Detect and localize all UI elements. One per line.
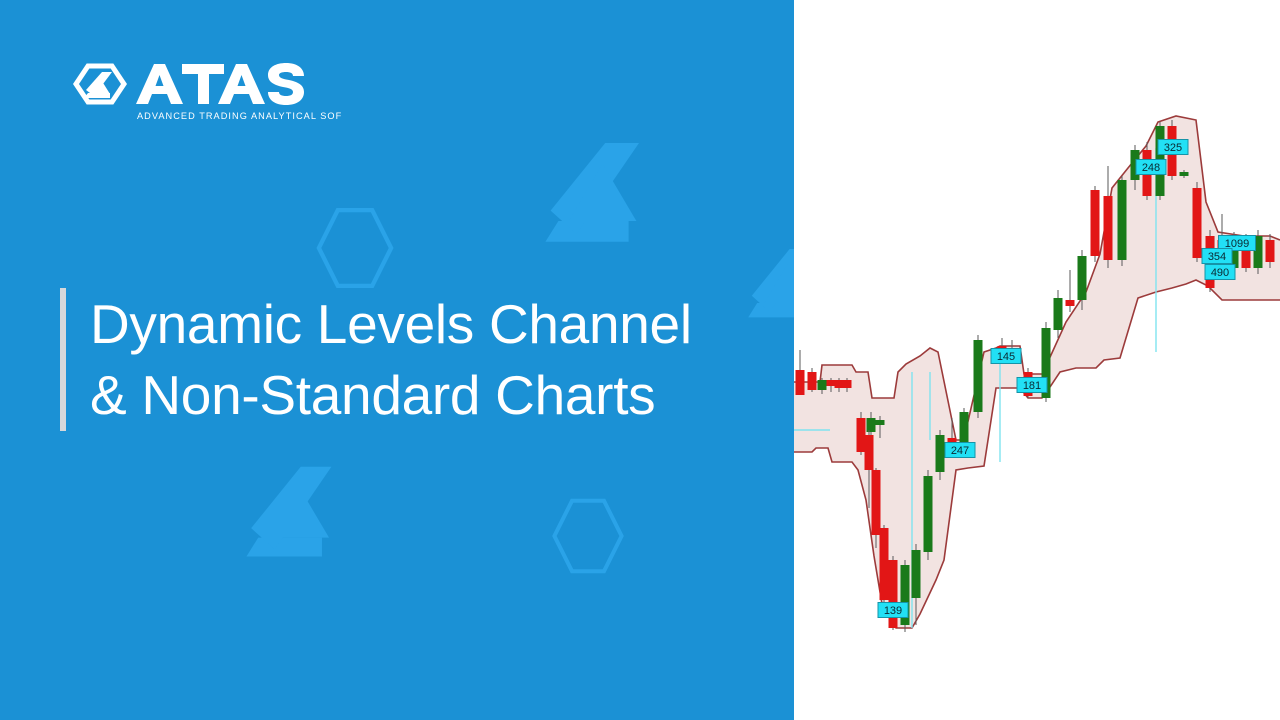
- watermark-hexagon-outline: [312, 205, 398, 291]
- value-label[interactable]: 181: [1017, 378, 1047, 393]
- candle-body-down: [1066, 300, 1075, 306]
- value-label[interactable]: 490: [1205, 265, 1235, 280]
- page-title-line-2: & Non-Standard Charts: [90, 360, 692, 431]
- candle-body-down: [857, 418, 866, 452]
- title-accent-bar: [60, 288, 66, 431]
- candle-body-up: [912, 550, 921, 598]
- candle-body-up: [924, 476, 933, 552]
- value-label-text: 248: [1142, 162, 1160, 174]
- candle-body-down: [1193, 188, 1202, 258]
- candle-body-down: [872, 470, 881, 535]
- candle-body-up: [1118, 180, 1127, 260]
- value-label-text: 145: [997, 351, 1015, 363]
- title-block: Dynamic Levels Channel & Non-Standard Ch…: [60, 288, 692, 431]
- hexagon-z-icon: [76, 66, 124, 102]
- candle-body-up: [936, 435, 945, 472]
- value-label[interactable]: 145: [991, 349, 1021, 364]
- candle-body-down: [880, 528, 889, 600]
- candle-body-down: [835, 380, 844, 388]
- value-label-text: 354: [1208, 251, 1226, 263]
- value-label[interactable]: 325: [1158, 140, 1188, 155]
- candle-body-down: [843, 380, 852, 388]
- candle-body-up: [867, 418, 876, 432]
- logo-tagline: ADVANCED TRADING ANALYTICAL SOFTWARE: [137, 111, 342, 121]
- title-panel: ADVANCED TRADING ANALYTICAL SOFTWARE Dyn…: [0, 0, 794, 720]
- candle-body-up: [876, 420, 885, 425]
- candle-body-up: [1078, 256, 1087, 300]
- candle-body-up: [818, 380, 827, 390]
- watermark-z-arrow: [535, 130, 665, 260]
- value-label-text: 325: [1164, 142, 1182, 154]
- candle-body-up: [1054, 298, 1063, 330]
- candle-body-down: [827, 380, 836, 386]
- value-label[interactable]: 248: [1136, 160, 1166, 175]
- page-title-line-1: Dynamic Levels Channel: [90, 289, 692, 360]
- candle-body-down: [1266, 240, 1275, 262]
- watermark-hexagon-outline: [548, 496, 628, 576]
- chart-background: [794, 0, 1280, 720]
- value-label-text: 490: [1211, 267, 1229, 279]
- watermark-z-arrow: [237, 455, 355, 573]
- value-label[interactable]: 139: [878, 603, 908, 618]
- candle-body-down: [808, 372, 817, 390]
- atas-logo: ADVANCED TRADING ANALYTICAL SOFTWARE: [72, 62, 342, 124]
- candle-body-down: [1104, 196, 1113, 260]
- value-label[interactable]: 247: [945, 443, 975, 458]
- candle-body-up: [974, 340, 983, 412]
- value-label-text: 181: [1023, 380, 1041, 392]
- candle-body-down: [796, 370, 805, 395]
- value-label[interactable]: 354: [1202, 249, 1232, 264]
- slide-root: 1392471451812483251099354490: [0, 0, 1280, 720]
- watermark-z-arrow: [741, 240, 794, 330]
- candle-body-down: [865, 435, 874, 470]
- value-label-text: 139: [884, 605, 902, 617]
- candle-body-up: [960, 412, 969, 445]
- candle-body-down: [1091, 190, 1100, 256]
- atas-wordmark: [136, 63, 304, 105]
- candle-body-up: [1180, 172, 1189, 176]
- value-label-text: 247: [951, 445, 969, 457]
